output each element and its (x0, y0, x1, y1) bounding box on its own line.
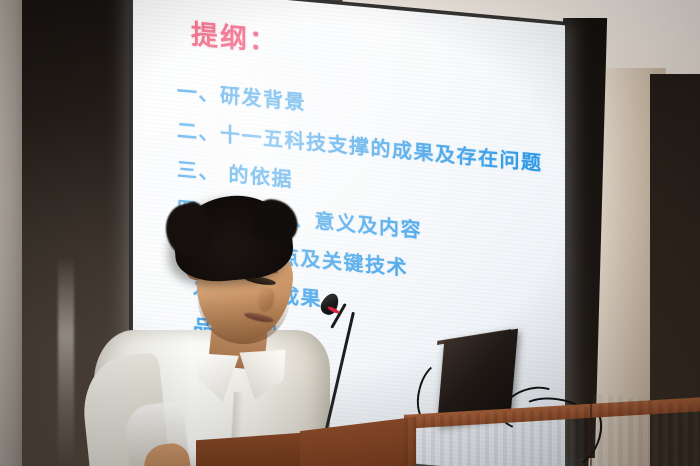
podium-side-panel (588, 393, 700, 466)
presentation-photo: 提纲： 一、研发背景 二、十一五科技支撑的成果及存在问题 三、 的依据 四、 的… (0, 0, 700, 466)
left-wall-strip (0, 0, 24, 466)
speaker (92, 196, 332, 466)
podium-corner-seam (590, 402, 592, 466)
slide-title: 提纲： (191, 21, 565, 82)
podium-front-panel (404, 406, 594, 466)
left-wall-metal-trim (58, 0, 74, 466)
